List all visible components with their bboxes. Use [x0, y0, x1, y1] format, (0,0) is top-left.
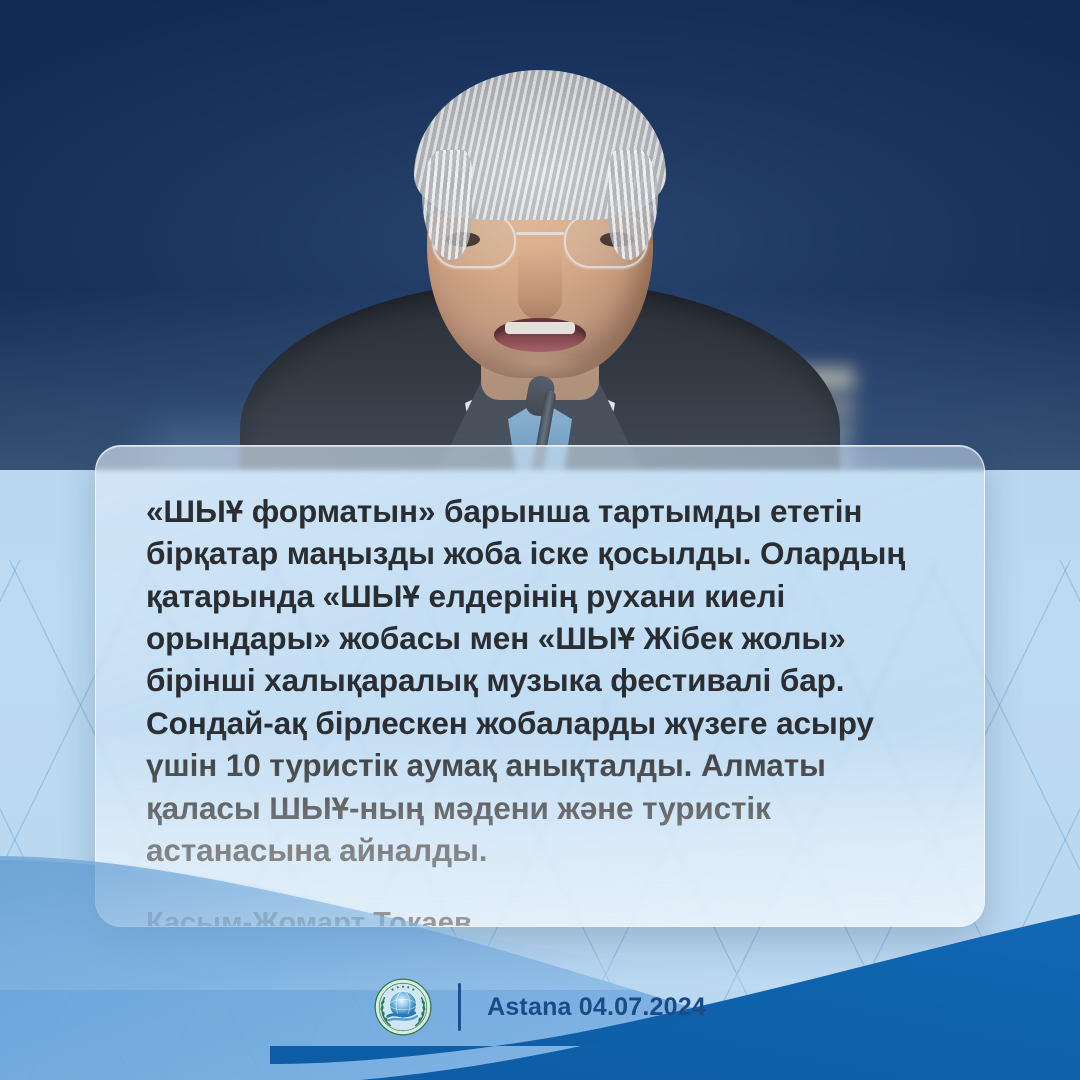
- footer-divider: [458, 983, 461, 1031]
- sco-emblem-icon: [374, 978, 432, 1036]
- quote-card: «ШЫҰ форматын» барынша тартымды ететін б…: [95, 445, 985, 927]
- footer: Astana 04.07.2024: [0, 978, 1080, 1036]
- author-name: Қасым-Жомарт Тоқаев: [146, 907, 938, 927]
- event-date-location: Astana 04.07.2024: [487, 993, 706, 1022]
- quote-text: «ШЫҰ форматын» барынша тартымды ететін б…: [146, 490, 938, 871]
- quote-card-graphic: «ШЫҰ форматын» барынша тартымды ететін б…: [0, 0, 1080, 1080]
